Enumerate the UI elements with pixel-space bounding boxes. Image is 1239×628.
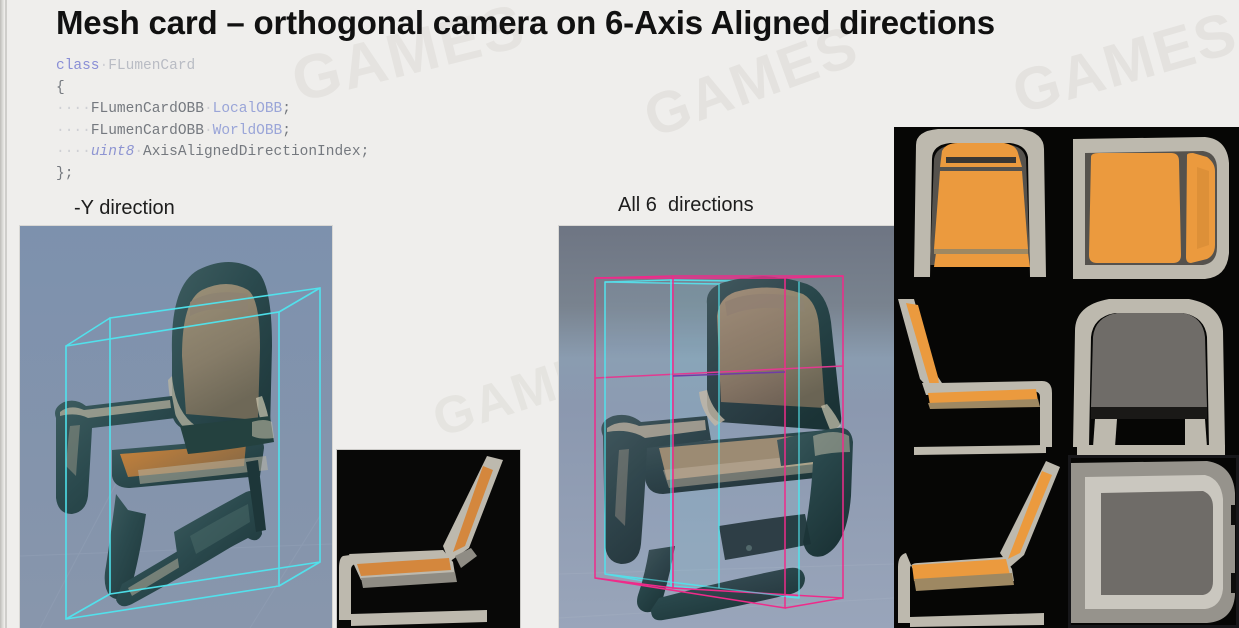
card-side-left-render: [894, 297, 1067, 457]
code-token: ····: [56, 123, 91, 139]
watermark-text: GAMES: [1005, 0, 1239, 127]
slide-left-edge-line: [5, 0, 7, 628]
card-bottom-render: [1067, 457, 1239, 628]
card-cell-side-right[interactable]: [894, 457, 1067, 628]
code-token: class: [56, 58, 100, 74]
caption-right-viewport: All 6 directions: [618, 194, 754, 217]
code-block: class·FLumenCard{····FLumenCardOBB·Local…: [56, 56, 369, 185]
code-line: class·FLumenCard: [56, 56, 369, 78]
code-token: AxisAlignedDirectionIndex: [143, 144, 361, 160]
card-cell-front[interactable]: [894, 127, 1067, 297]
card-grid-6-directions[interactable]: [894, 127, 1239, 628]
code-token: ·: [204, 123, 213, 139]
caption-left-viewport: -Y direction: [74, 197, 175, 220]
code-token: {: [56, 80, 65, 96]
code-line: ····FLumenCardOBB·WorldOBB;: [56, 121, 369, 143]
card-front-render: [894, 127, 1067, 297]
code-line: {: [56, 78, 369, 100]
code-token: ·: [100, 58, 109, 74]
card-cell-top[interactable]: [1067, 127, 1239, 297]
code-token: ;: [282, 101, 291, 117]
code-token: };: [56, 166, 73, 182]
page-title: Mesh card – orthogonal camera on 6-Axis …: [56, 4, 995, 42]
code-token: uint8: [91, 144, 135, 160]
code-line: ····FLumenCardOBB·LocalOBB;: [56, 99, 369, 121]
card-thumbnail-minus-y[interactable]: [337, 450, 520, 628]
card-cell-back[interactable]: [1067, 297, 1239, 457]
card-side-right-render: [894, 457, 1067, 628]
viewport-right-render: [559, 226, 894, 628]
code-token: FLumenCardOBB: [91, 123, 204, 139]
code-token: FLumenCard: [108, 58, 195, 74]
code-line: };: [56, 164, 369, 186]
code-line: ····uint8·AxisAlignedDirectionIndex;: [56, 142, 369, 164]
code-token: WorldOBB: [213, 123, 283, 139]
slide-canvas: GAMES GAMES GAMES GAMES Mesh card – orth…: [0, 0, 1239, 628]
code-token: LocalOBB: [213, 101, 283, 117]
code-token: ····: [56, 144, 91, 160]
card-cell-side-left[interactable]: [894, 297, 1067, 457]
card-back-render: [1067, 297, 1239, 457]
code-token: ·: [204, 101, 213, 117]
card-cell-bottom[interactable]: [1067, 457, 1239, 628]
viewport-all-6-directions[interactable]: [559, 226, 894, 628]
card-thumbnail-render: [337, 450, 520, 628]
card-top-render: [1067, 127, 1239, 297]
viewport-left-render: [20, 226, 332, 628]
code-token: FLumenCardOBB: [91, 101, 204, 117]
code-token: ;: [361, 144, 370, 160]
code-token: ····: [56, 101, 91, 117]
code-token: ;: [282, 123, 291, 139]
viewport-minus-y-direction[interactable]: [20, 226, 332, 628]
code-token: ·: [134, 144, 143, 160]
